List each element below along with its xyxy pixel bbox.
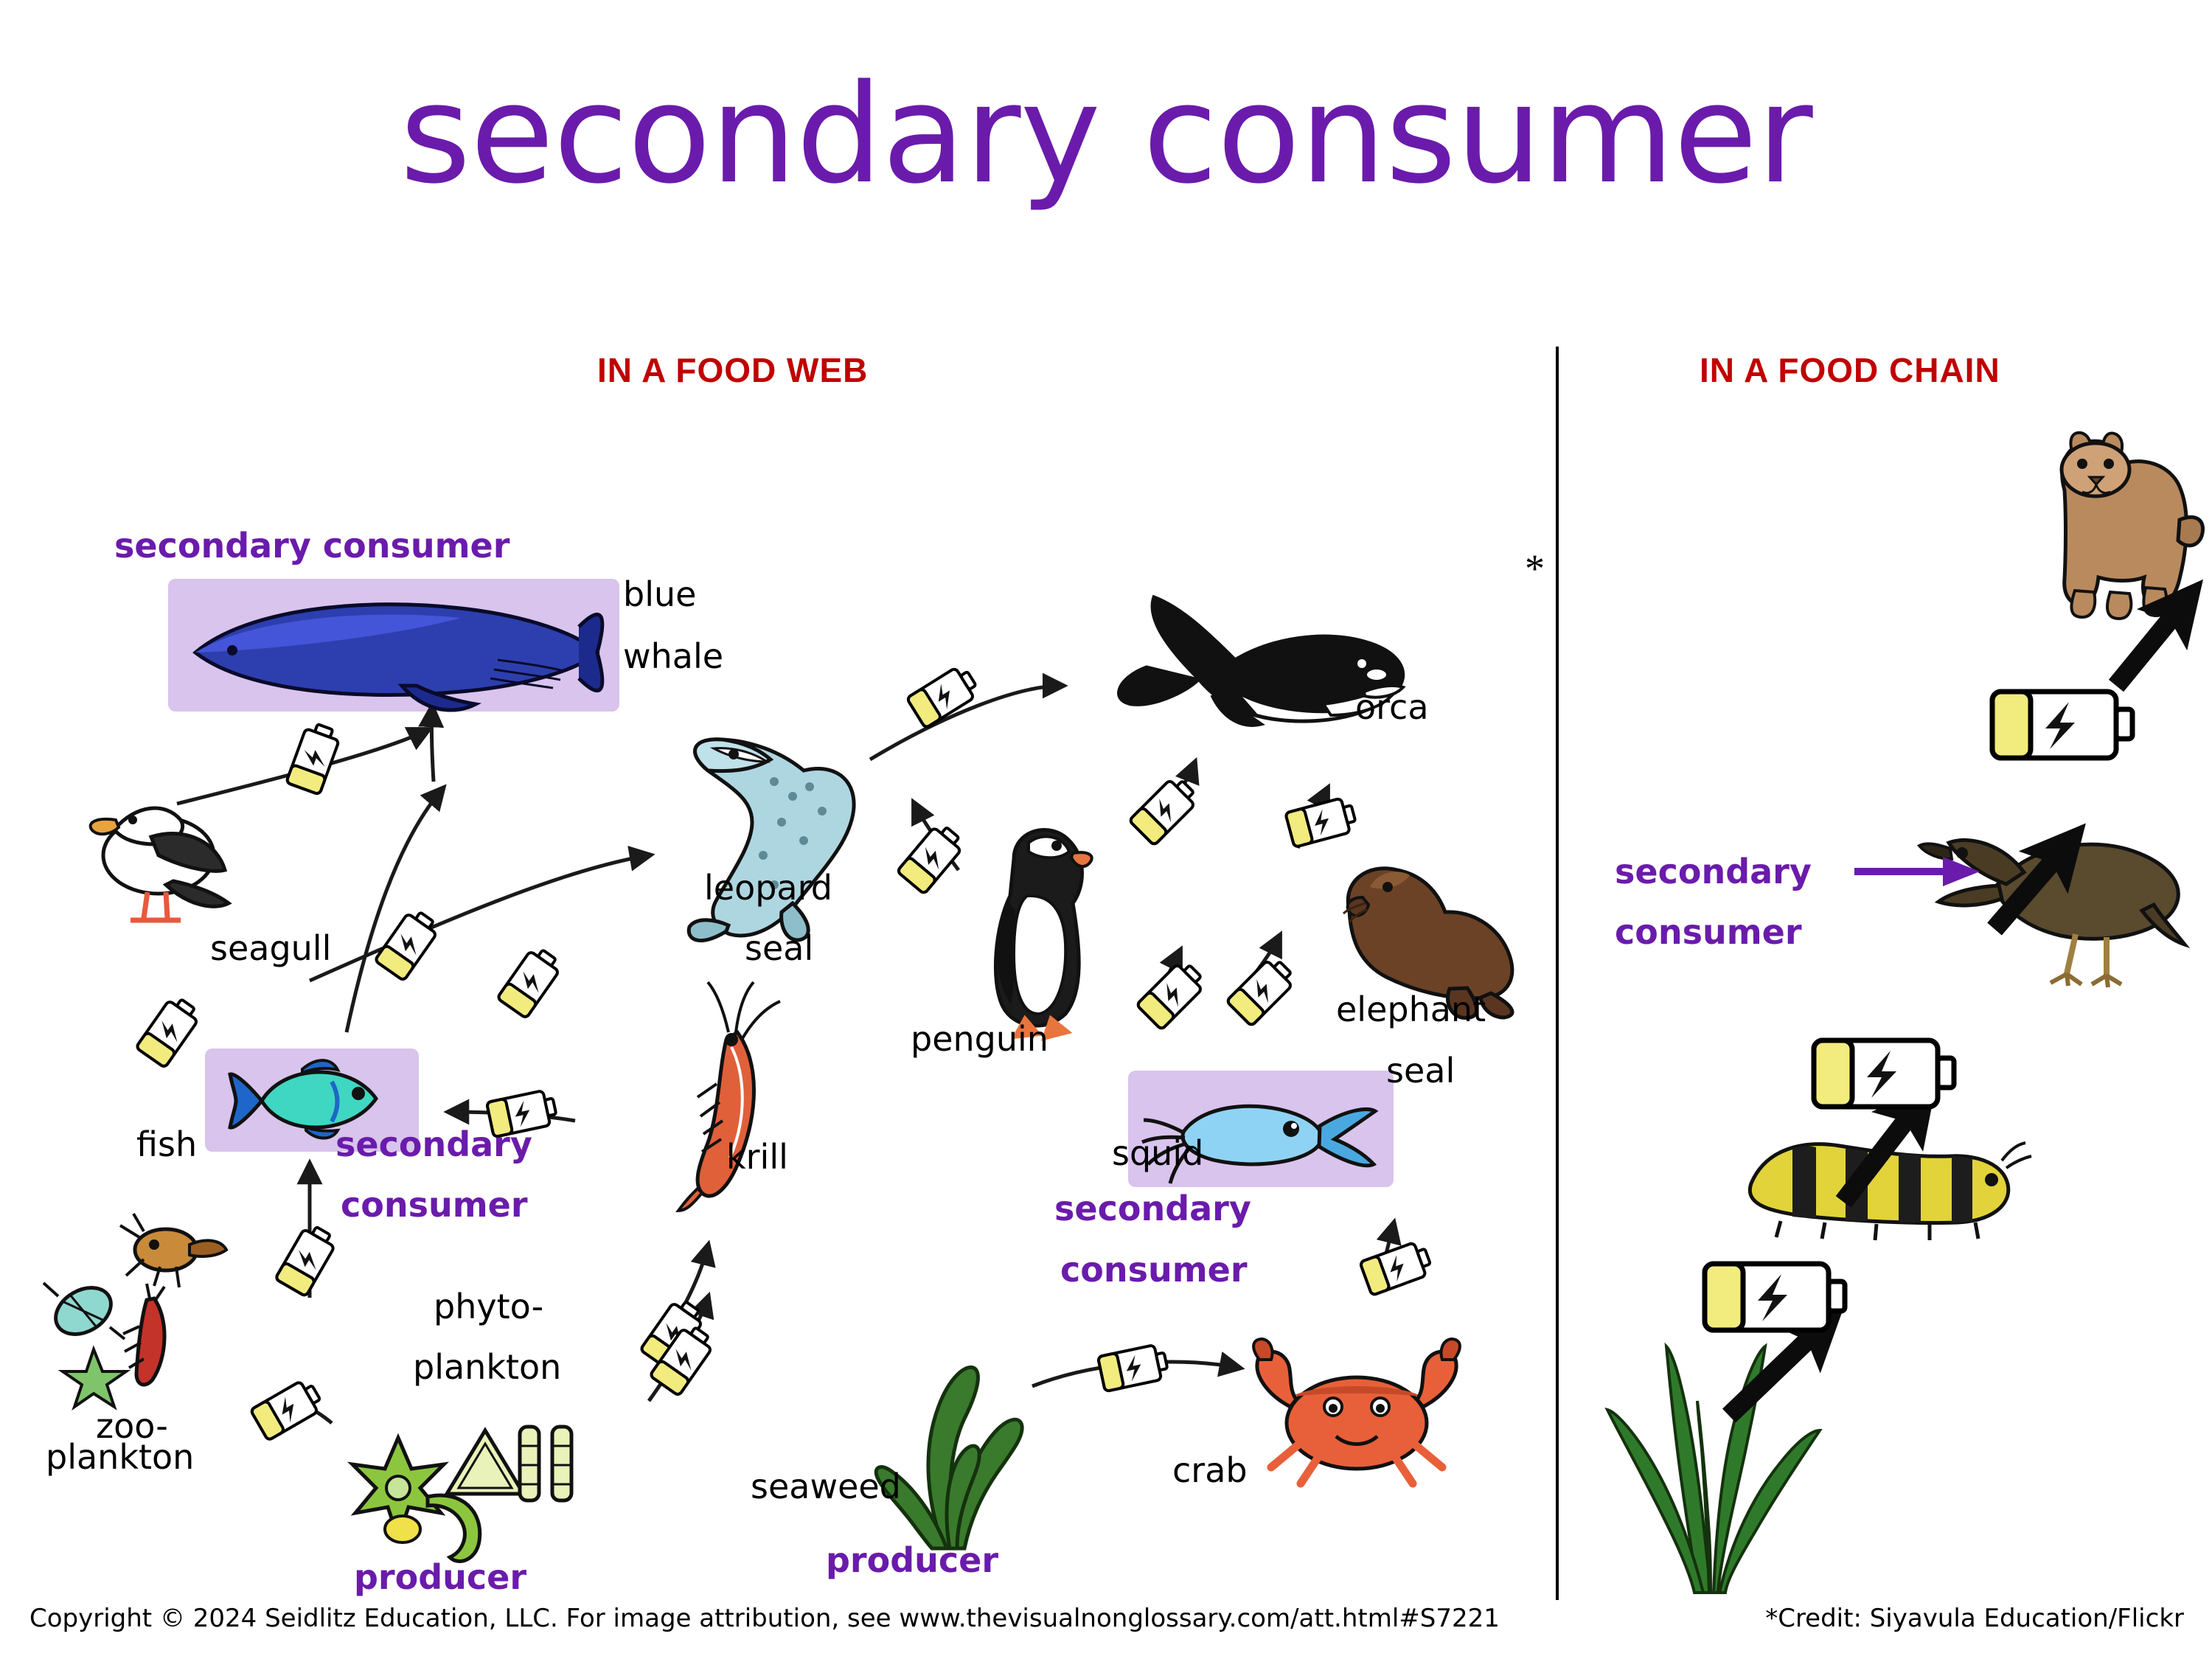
label-penguin: penguin xyxy=(911,1021,1048,1057)
label-leopard-seal-2: seal xyxy=(745,931,813,967)
label-orca: orca xyxy=(1355,689,1429,726)
penguin-image xyxy=(970,807,1110,1051)
label-seagull: seagull xyxy=(210,931,331,967)
poster-page: secondary consumer IN A FOOD WEB IN A FO… xyxy=(0,0,2212,1659)
energy-battery-icons-chain xyxy=(1548,369,2212,1622)
label-blue-whale-1: blue xyxy=(623,577,696,613)
label-seaweed-role: producer xyxy=(826,1543,998,1579)
footer-copyright: Copyright © 2024 Seidlitz Education, LLC… xyxy=(29,1604,1500,1633)
label-squid: squid xyxy=(1112,1135,1203,1172)
label-crab: crab xyxy=(1172,1453,1248,1489)
label-fish-role-1: secondary xyxy=(335,1127,532,1163)
phytoplankton-image xyxy=(332,1379,612,1571)
label-squid-role-2: consumer xyxy=(1060,1252,1248,1288)
leopard-seal-image xyxy=(664,719,900,962)
label-fish: fish xyxy=(136,1127,197,1163)
label-zooplankton-2: plankton xyxy=(46,1439,194,1475)
chain-annotation-arrow xyxy=(1851,848,2013,914)
squid-image xyxy=(1139,1073,1390,1191)
krill-image xyxy=(649,981,818,1224)
label-elephant-seal-1: elephant xyxy=(1336,992,1486,1028)
blue-whale-image xyxy=(181,582,608,708)
chain-annotation-line2: consumer xyxy=(1615,914,1802,950)
label-fish-role-2: consumer xyxy=(341,1187,528,1223)
label-blue-whale-2: whale xyxy=(623,639,723,675)
chain-annotation-line1: secondary xyxy=(1615,854,1812,890)
label-phytoplankton-role: producer xyxy=(354,1559,526,1596)
label-leopard-seal-1: leopard xyxy=(704,870,832,906)
seaweed-image xyxy=(870,1327,1040,1556)
label-phytoplankton-1: phyto- xyxy=(434,1289,543,1325)
label-blue-whale-role: secondary consumer xyxy=(114,528,509,564)
label-phytoplankton-2: plankton xyxy=(413,1349,561,1385)
label-seaweed: seaweed xyxy=(751,1469,901,1505)
label-elephant-seal-2: seal xyxy=(1386,1053,1455,1089)
label-krill: krill xyxy=(726,1139,788,1175)
footer-credit: *Credit: Siyavula Education/Flickr xyxy=(1765,1604,2184,1633)
label-squid-role-1: secondary xyxy=(1054,1191,1251,1227)
zooplankton-image xyxy=(41,1194,269,1423)
crab-image xyxy=(1246,1327,1467,1504)
